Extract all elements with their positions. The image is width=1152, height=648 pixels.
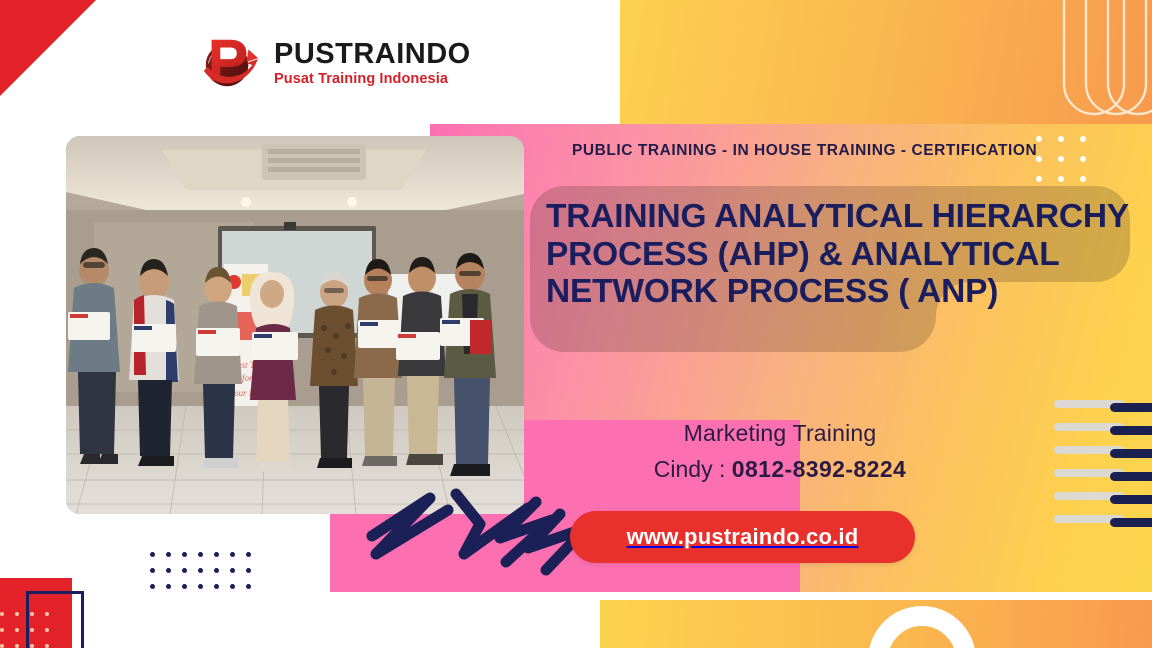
title-block: TRAINING ANALYTICAL HIERARCHY PROCESS (A… (546, 198, 1146, 311)
website-url: www.pustraindo.co.id (627, 524, 859, 550)
dot-grid-icon (0, 612, 60, 648)
brand-tagline: Pusat Training Indonesia (274, 72, 471, 87)
corner-triangle-decoration (0, 0, 96, 96)
eyebrow-text: PUBLIC TRAINING - IN HOUSE TRAINING - CE… (572, 142, 1037, 160)
horizontal-bars-icon (1050, 398, 1152, 538)
svg-text:for: for (242, 373, 253, 383)
brand-logo: PUSTRAINDO Pusat Training Indonesia (198, 32, 471, 94)
contact-block: Marketing Training Cindy : 0812-8392-822… (530, 420, 1030, 483)
contact-person-line: Cindy : 0812-8392-8224 (530, 456, 1030, 483)
pustraindo-globe-p-logo-icon (198, 32, 260, 94)
dot-grid-icon (150, 552, 262, 600)
top-gradient-strip (620, 0, 1152, 126)
contact-phone[interactable]: 0812-8392-8224 (732, 456, 906, 482)
circle-ring-icon (862, 604, 982, 648)
page-title: TRAINING ANALYTICAL HIERARCHY PROCESS (A… (546, 198, 1146, 311)
brand-name: PUSTRAINDO (274, 40, 471, 69)
promotional-banner: PUSTRAINDO Pusat Training Indonesia (0, 0, 1152, 648)
group-photo-illustration: Best TrainingforYour Need (66, 136, 524, 514)
website-button[interactable]: www.pustraindo.co.id (570, 511, 915, 563)
contact-person-label: Cindy : (654, 456, 726, 482)
training-group-photo: Best TrainingforYour Need (66, 136, 524, 514)
contact-role: Marketing Training (530, 420, 1030, 447)
u-curve-lines-icon (1042, 0, 1152, 126)
brand-logo-text: PUSTRAINDO Pusat Training Indonesia (274, 40, 471, 87)
